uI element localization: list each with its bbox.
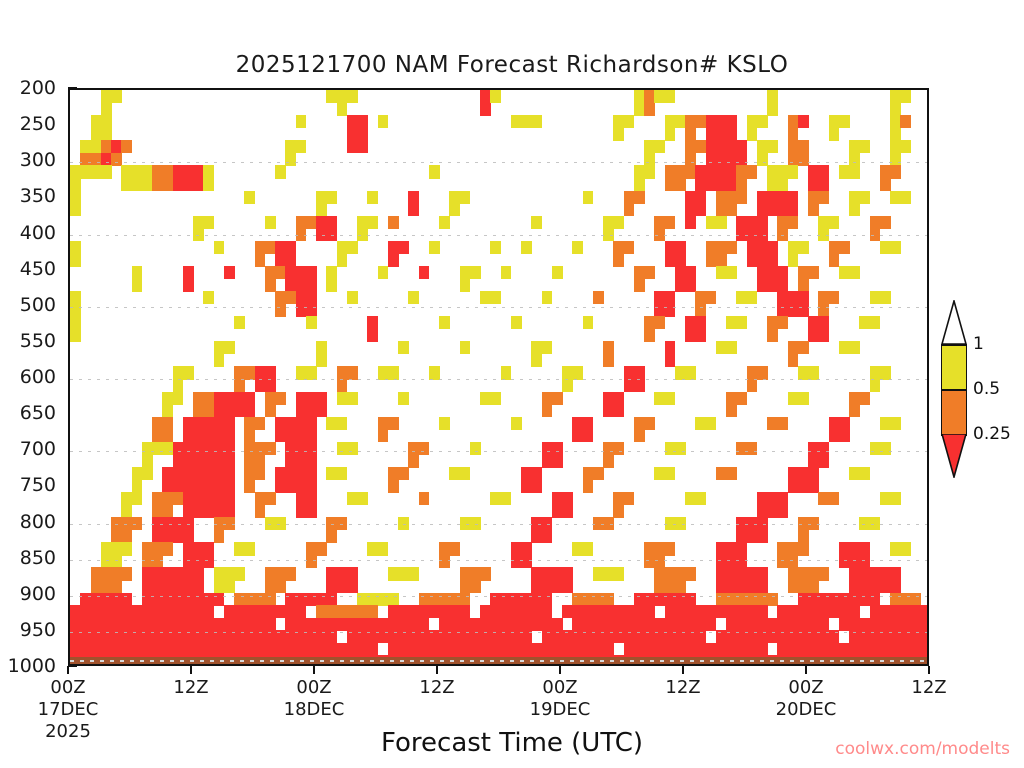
heatmap-cell: [173, 454, 235, 467]
heatmap-cell: [337, 379, 348, 392]
heatmap-cell: [265, 580, 286, 593]
heatmap-cell: [316, 216, 337, 229]
heatmap-cell: [419, 492, 430, 505]
heatmap-cell: [593, 567, 624, 580]
heatmap-cell: [788, 392, 809, 405]
heatmap-cell: [378, 366, 399, 379]
heatmap-cell: [183, 278, 194, 291]
heatmap-cell: [214, 567, 245, 580]
heatmap-cell: [357, 593, 399, 606]
heatmap-cell: [818, 304, 829, 317]
heatmap-cell: [265, 278, 276, 291]
heatmap-cell: [337, 253, 348, 266]
heatmap-cell: [849, 191, 870, 204]
heatmap-cell: [255, 492, 276, 505]
heatmap-cell: [644, 555, 665, 568]
heatmap-cell: [890, 128, 901, 141]
heatmap-cell: [203, 165, 214, 178]
heatmap-cell: [706, 128, 737, 141]
heatmap-cell: [439, 555, 450, 568]
heatmap-cell: [726, 316, 747, 329]
heatmap-cell: [480, 291, 501, 304]
heatmap-cell: [347, 128, 368, 141]
heatmap-cell: [767, 103, 778, 116]
heatmap-cell: [644, 542, 675, 555]
heatmap-cell: [501, 366, 512, 379]
heatmap-cell: [818, 228, 829, 241]
heatmap-cell: [870, 216, 891, 229]
heatmap-cell: [685, 492, 706, 505]
x-axis-tick: [67, 666, 69, 674]
site-watermark: coolwx.com/modelts: [835, 739, 1010, 759]
y-axis-label: 750: [20, 474, 56, 496]
heatmap-cell: [347, 115, 368, 128]
heatmap-cell: [870, 228, 881, 241]
heatmap-cell: [695, 165, 737, 178]
heatmap-cell: [613, 241, 634, 254]
heatmap-cell: [654, 216, 675, 229]
heatmap-cell: [788, 580, 819, 593]
heatmap-cell: [634, 593, 696, 606]
heatmap-cell: [460, 341, 471, 354]
heatmap-cell: [685, 191, 706, 204]
heatmap-cell: [398, 517, 409, 530]
heatmap-cell: [183, 555, 214, 568]
heatmap-cell: [747, 128, 758, 141]
heatmap-cell: [234, 593, 276, 606]
heatmap-cell: [777, 216, 798, 229]
heatmap-cell: [470, 442, 481, 455]
heatmap-cell: [798, 115, 809, 128]
heatmap-cell: [419, 266, 430, 279]
x-axis-label: 12Z: [665, 677, 700, 699]
heatmap-cell: [80, 593, 132, 606]
heatmap-cell: [634, 417, 655, 430]
y-axis-label: 650: [20, 402, 56, 424]
heatmap-cell: [757, 266, 788, 279]
heatmap-cell: [829, 128, 840, 141]
heatmap-cell: [367, 329, 378, 342]
heatmap-cell: [870, 605, 930, 618]
heatmap-cell: [716, 580, 768, 593]
heatmap-cell: [111, 153, 122, 166]
x-axis-tick: [313, 666, 315, 674]
heatmap-cell: [214, 530, 225, 543]
heatmap-cell: [624, 366, 645, 379]
heatmap-cell: [347, 492, 368, 505]
heatmap-cell: [70, 316, 81, 329]
heatmap-cell: [275, 165, 286, 178]
heatmap-cell: [613, 505, 624, 518]
heatmap-cell: [439, 618, 563, 631]
heatmap-cell: [767, 329, 778, 342]
heatmap-cell: [275, 253, 296, 266]
heatmap-cell: [255, 253, 266, 266]
heatmap-cell: [695, 291, 716, 304]
y-axis-label: 200: [20, 77, 56, 99]
heatmap-cell: [316, 228, 337, 241]
heatmap-cell: [357, 216, 378, 229]
heatmap-cell: [788, 341, 809, 354]
heatmap-cell: [316, 354, 327, 367]
heatmap-cell: [716, 266, 737, 279]
heatmap-cell: [829, 241, 850, 254]
heatmap-cell: [685, 329, 706, 342]
heatmap-cell: [829, 417, 850, 430]
heatmap-cell: [808, 203, 819, 216]
heatmap-cell: [870, 379, 881, 392]
heatmap-cell: [572, 593, 614, 606]
heatmap-cell: [777, 291, 808, 304]
heatmap-cell: [685, 153, 696, 166]
heatmap-cell: [757, 191, 799, 204]
heatmap-cell: [900, 90, 911, 103]
heatmap-cell: [890, 90, 901, 103]
richardson-number-forecast-chart: 2025121700 NAM Forecast Richardson# KSLO…: [0, 0, 1024, 768]
heatmap-cell: [173, 165, 204, 178]
heatmap-cell: [562, 379, 573, 392]
heatmap-cell: [747, 241, 778, 254]
heatmap-cell: [654, 291, 675, 304]
heatmap-cell: [183, 266, 194, 279]
heatmap-cell: [890, 115, 901, 128]
heatmap-cell: [880, 492, 901, 505]
heatmap-cell: [757, 153, 768, 166]
heatmap-cell: [91, 115, 112, 128]
heatmap-cell: [665, 178, 686, 191]
heatmap-cell: [429, 241, 440, 254]
heatmap-cell: [214, 241, 225, 254]
heatmap-cell: [296, 115, 307, 128]
heatmap-cell: [716, 567, 768, 580]
heatmap-cell: [132, 266, 143, 279]
heatmap-cell: [244, 191, 255, 204]
heatmap-cell: [111, 530, 132, 543]
heatmap-cell: [326, 580, 357, 593]
heatmap-cell: [736, 165, 757, 178]
heatmap-cell: [542, 454, 563, 467]
heatmap-cell: [542, 630, 707, 643]
heatmap-cell: [829, 253, 840, 266]
heatmap-cell: [101, 542, 132, 555]
heatmap-cell: [173, 366, 194, 379]
heatmap-cell: [542, 442, 563, 455]
heatmap-cell: [644, 329, 655, 342]
heatmap-cell: [747, 253, 778, 266]
heatmap-cell: [234, 542, 255, 555]
heatmap-cell: [449, 191, 470, 204]
heatmap-cell: [316, 191, 337, 204]
y-axis-label: 400: [20, 222, 56, 244]
heatmap-cell: [665, 115, 686, 128]
heatmap-cell: [244, 480, 255, 493]
heatmap-cell: [193, 392, 214, 405]
heatmap-cell: [121, 140, 132, 153]
heatmap-cell: [757, 505, 788, 518]
heatmap-cell: [275, 480, 317, 493]
heatmap-cell: [757, 203, 799, 216]
heatmap-cell: [603, 404, 624, 417]
heatmap-cell: [542, 392, 563, 405]
heatmap-cell: [808, 329, 829, 342]
heatmap-cell: [839, 341, 860, 354]
heatmap-cell: [408, 442, 429, 455]
heatmap-cell: [808, 316, 829, 329]
heatmap-cell: [777, 643, 929, 656]
heatmap-cell: [101, 555, 122, 568]
heatmap-cell: [367, 191, 378, 204]
heatmap-cell: [634, 429, 645, 442]
heatmap-cell: [80, 153, 101, 166]
heatmap-cell: [808, 454, 829, 467]
heatmap-cell: [542, 404, 553, 417]
heatmap-cell: [777, 605, 860, 618]
heatmap-cell: [285, 140, 306, 153]
heatmap-cell: [685, 128, 696, 141]
heatmap-cell: [111, 140, 122, 153]
heatmap-cell: [408, 291, 419, 304]
heatmap-cell: [306, 542, 327, 555]
heatmap-cell: [798, 278, 809, 291]
heatmap-cell: [777, 555, 798, 568]
heatmap-cell: [685, 316, 706, 329]
heatmap-cell: [870, 366, 891, 379]
heatmap-cell: [613, 492, 634, 505]
heatmap-cell: [152, 429, 173, 442]
heatmap-cell: [665, 354, 676, 367]
heatmap-cell: [70, 178, 81, 191]
heatmap-cell: [716, 555, 747, 568]
heatmap-cell: [162, 392, 183, 405]
heatmap-cell: [716, 341, 737, 354]
heatmap-cells: [70, 90, 927, 664]
y-axis-label: 850: [20, 547, 56, 569]
heatmap-cell: [572, 429, 593, 442]
heatmap-cell: [326, 567, 357, 580]
heatmap-cell: [511, 417, 522, 430]
heatmap-cell: [665, 517, 686, 530]
heatmap-cell: [531, 354, 542, 367]
heatmap-cell: [183, 505, 235, 518]
heatmap-cell: [788, 115, 799, 128]
heatmap-cell: [265, 392, 286, 405]
heatmap-cell: [644, 90, 655, 103]
x-axis-label: 12Z: [173, 677, 208, 699]
heatmap-cell: [736, 530, 767, 543]
heatmap-cell: [70, 329, 81, 342]
heatmap-cell: [808, 442, 829, 455]
heatmap-cell: [70, 165, 81, 178]
heatmap-cell: [531, 530, 552, 543]
heatmap-cell: [603, 228, 614, 241]
heatmap-cell: [572, 417, 593, 430]
heatmap-cell: [91, 580, 122, 593]
heatmap-cell: [593, 517, 614, 530]
heatmap-cell: [388, 567, 419, 580]
heatmap-cell: [716, 593, 778, 606]
heatmap-cell: [70, 655, 929, 666]
heatmap-cell: [70, 643, 378, 656]
heatmap-cell: [859, 517, 880, 530]
heatmap-cell: [511, 542, 532, 555]
heatmap-cell: [306, 555, 317, 568]
heatmap-cell: [255, 505, 266, 518]
heatmap-cell: [531, 341, 552, 354]
heatmap-cell: [644, 103, 655, 116]
y-axis-label: 350: [20, 185, 56, 207]
heatmap-cell: [408, 454, 419, 467]
heatmap-cell: [736, 517, 767, 530]
heatmap-cell: [173, 442, 235, 455]
heatmap-cell: [70, 618, 276, 631]
heatmap-cell: [132, 278, 143, 291]
heatmap-cell: [818, 492, 839, 505]
heatmap-cell: [849, 140, 870, 153]
heatmap-cell: [716, 191, 747, 204]
heatmap-cell: [244, 454, 265, 467]
heatmap-cell: [439, 542, 460, 555]
heatmap-cell: [634, 178, 645, 191]
x-axis-label: 12Z: [419, 677, 454, 699]
heatmap-cell: [337, 103, 348, 116]
heatmap-cell: [624, 203, 635, 216]
heatmap-cell: [265, 216, 276, 229]
heatmap-cell: [572, 542, 593, 555]
heatmap-cell: [583, 467, 604, 480]
heatmap-cell: [152, 530, 194, 543]
heatmap-cell: [70, 304, 81, 317]
heatmap-cell: [788, 567, 830, 580]
heatmap-cell: [552, 492, 573, 505]
heatmap-cell: [460, 517, 481, 530]
heatmap-cell: [542, 291, 553, 304]
heatmap-cell: [70, 291, 81, 304]
heatmap-cell: [747, 366, 768, 379]
heatmap-cell: [214, 517, 235, 530]
heatmap-cell: [285, 266, 316, 279]
heatmap-cell: [275, 429, 317, 442]
heatmap-cell: [70, 630, 337, 643]
heatmap-cell: [726, 618, 829, 631]
heatmap-cell: [716, 203, 737, 216]
heatmap-cell: [244, 467, 265, 480]
heatmap-cell: [634, 103, 645, 116]
heatmap-cell: [388, 605, 471, 618]
heatmap-cell: [460, 266, 481, 279]
heatmap-cell: [531, 517, 552, 530]
heatmap-cell: [665, 241, 686, 254]
heatmap-cell: [378, 417, 399, 430]
y-axis-label: 950: [20, 619, 56, 641]
heatmap-cell: [408, 191, 419, 204]
heatmap-cell: [736, 291, 757, 304]
heatmap-cell: [337, 442, 358, 455]
heatmap-cell: [388, 467, 409, 480]
heatmap-cell: [870, 442, 891, 455]
heatmap-cell: [736, 442, 757, 455]
heatmap-cell: [849, 467, 870, 480]
heatmap-cell: [367, 542, 388, 555]
heatmap-cell: [275, 417, 317, 430]
heatmap-cell: [388, 643, 614, 656]
heatmap-cell: [132, 467, 153, 480]
heatmap-cell: [162, 467, 234, 480]
heatmap-cell: [224, 605, 307, 618]
heatmap-cell: [490, 90, 501, 103]
y-axis-label: 500: [20, 294, 56, 316]
heatmap-cell: [152, 492, 183, 505]
heatmap-cell: [880, 178, 891, 191]
heatmap-cell: [142, 454, 153, 467]
heatmap-cell: [121, 492, 142, 505]
heatmap-cell: [593, 291, 604, 304]
heatmap-cell: [798, 366, 819, 379]
heatmap-cell: [900, 115, 911, 128]
heatmap-cell: [839, 555, 870, 568]
heatmap-cell: [316, 605, 378, 618]
heatmap-cell: [183, 492, 235, 505]
colorbar-band-below: [941, 434, 967, 478]
heatmap-cell: [695, 417, 716, 430]
heatmap-cell: [203, 291, 214, 304]
y-axis-label: 300: [20, 149, 56, 171]
heatmap-cell: [583, 191, 594, 204]
x-axis-tick: [190, 666, 192, 674]
x-axis-label: 00Z20DEC: [776, 677, 837, 721]
heatmap-cell: [654, 467, 675, 480]
heatmap-cell: [449, 203, 460, 216]
heatmap-cell: [603, 354, 614, 367]
y-axis: 2002503003504004505005506006507007508008…: [0, 88, 68, 666]
heatmap-cell: [357, 228, 368, 241]
heatmap-cell: [531, 216, 542, 229]
heatmap-cell: [736, 216, 767, 229]
heatmap-cell: [244, 442, 275, 455]
heatmap-cell: [788, 153, 809, 166]
heatmap-cell: [531, 567, 573, 580]
heatmap-cell: [716, 630, 840, 643]
plot-area: [68, 88, 929, 666]
heatmap-cell: [818, 291, 839, 304]
heatmap-cell: [296, 392, 327, 405]
heatmap-cell: [788, 128, 799, 141]
heatmap-cell: [275, 304, 286, 317]
heatmap-cell: [675, 366, 696, 379]
heatmap-cell: [685, 216, 696, 229]
heatmap-cell: [603, 442, 624, 455]
heatmap-cell: [695, 304, 706, 317]
heatmap-cell: [808, 165, 829, 178]
colorbar-tick-label: 0.25: [973, 424, 1011, 444]
heatmap-cell: [839, 266, 860, 279]
colorbar-above-outline: [941, 300, 967, 344]
heatmap-cell: [706, 115, 737, 128]
heatmap-cell: [326, 278, 337, 291]
heatmap-cell: [829, 429, 850, 442]
heatmap-cell: [152, 165, 173, 178]
heatmap-cell: [378, 266, 389, 279]
heatmap-cell: [173, 178, 204, 191]
heatmap-cell: [203, 178, 214, 191]
heatmap-cell: [91, 567, 133, 580]
heatmap-cell: [685, 203, 706, 216]
heatmap-cell: [193, 404, 214, 417]
heatmap-cell: [665, 341, 676, 354]
heatmap-cell: [214, 392, 256, 405]
heatmap-cell: [480, 103, 491, 116]
heatmap-cell: [767, 165, 798, 178]
heatmap-cell: [70, 253, 81, 266]
